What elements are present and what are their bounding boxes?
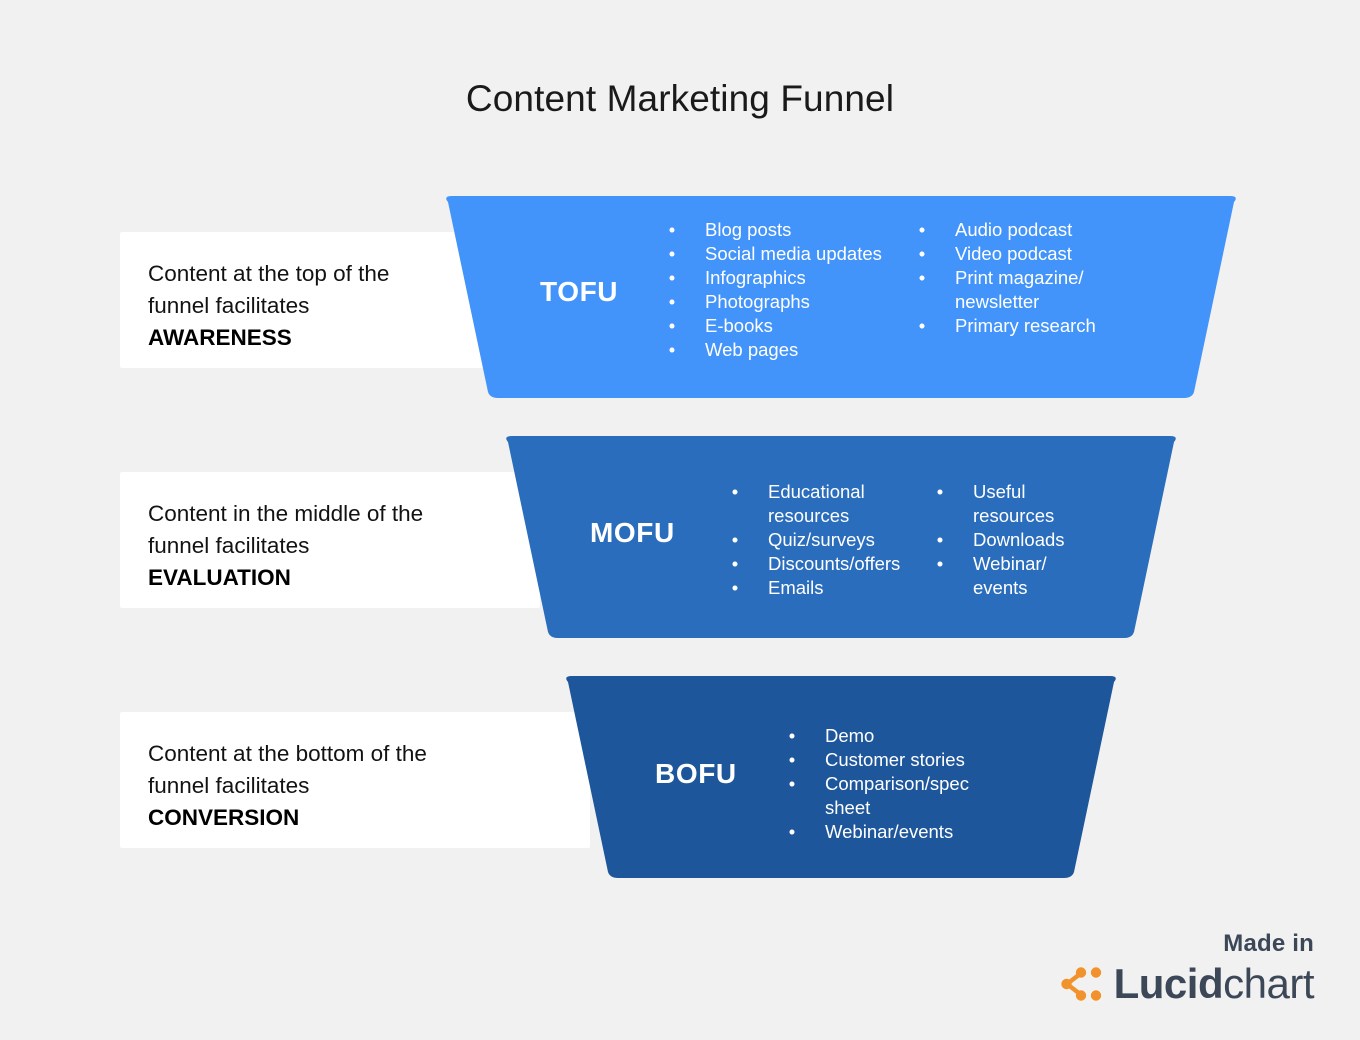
bullet-icon: •: [915, 242, 929, 266]
list-item: •Webinar/ events: [933, 552, 1065, 600]
label-card-mofu-text: Content in the middle of the funnel faci…: [148, 498, 540, 562]
bullet-icon: •: [665, 290, 679, 314]
bullet-icon: •: [933, 528, 947, 552]
bullet-icon: •: [665, 242, 679, 266]
list-item: •Video podcast: [915, 242, 1096, 266]
funnel-stage-bofu[interactable]: BOFU •Demo •Customer stories •Comparison…: [560, 676, 1122, 878]
list-item: •Primary research: [915, 314, 1096, 338]
bullet-icon: •: [933, 552, 947, 576]
wordmark-lucid: Lucid: [1114, 960, 1224, 1007]
list-item: •Web pages: [665, 338, 915, 362]
list-item: •Quiz/surveys: [728, 528, 933, 552]
stage-tofu-bullets: •Blog posts •Social media updates •Infog…: [665, 218, 1096, 362]
stage-name-mofu: MOFU: [590, 517, 675, 549]
list-item: •Print magazine/ newsletter: [915, 266, 1096, 314]
stage-bofu-bullets: •Demo •Customer stories •Comparison/spec…: [785, 724, 1015, 844]
bullet-icon: •: [665, 314, 679, 338]
stage-name-tofu: TOFU: [540, 276, 618, 308]
lucidchart-logo-icon: [1058, 962, 1104, 1006]
bullet-icon: •: [785, 772, 799, 796]
stage-mofu-bullets: •Educational resources •Quiz/surveys •Di…: [728, 480, 1065, 600]
bullet-icon: •: [933, 480, 947, 504]
list-item: •Audio podcast: [915, 218, 1096, 242]
stage-name-bofu: BOFU: [655, 758, 737, 790]
lucidchart-attribution: Made in Lucidchart: [1058, 930, 1314, 1006]
list-item: •Social media updates: [665, 242, 915, 266]
list-item: •Blog posts: [665, 218, 915, 242]
list-item: •Useful resources: [933, 480, 1065, 528]
bullet-icon: •: [915, 266, 929, 290]
bullet-icon: •: [665, 266, 679, 290]
lucidchart-wordmark: Lucidchart: [1114, 962, 1314, 1006]
list-item: •Emails: [728, 576, 933, 600]
bullet-icon: •: [915, 218, 929, 242]
list-item: •E-books: [665, 314, 915, 338]
bullet-icon: •: [915, 314, 929, 338]
bullet-icon: •: [728, 528, 742, 552]
funnel-stage-mofu[interactable]: MOFU •Educational resources •Quiz/survey…: [500, 436, 1182, 638]
bullet-icon: •: [785, 724, 799, 748]
list-item: •Downloads: [933, 528, 1065, 552]
label-card-mofu-emphasis: EVALUATION: [148, 562, 540, 594]
bullet-icon: •: [665, 218, 679, 242]
wordmark-chart: chart: [1223, 960, 1314, 1007]
label-card-bofu: Content at the bottom of the funnel faci…: [120, 712, 590, 848]
list-item: •Educational resources: [728, 480, 933, 528]
list-item: •Discounts/offers: [728, 552, 933, 576]
list-item: •Comparison/spec sheet: [785, 772, 1015, 820]
stage-tofu-column-b: •Audio podcast •Video podcast •Print mag…: [915, 218, 1096, 338]
label-card-mofu: Content in the middle of the funnel faci…: [120, 472, 540, 608]
made-in-label: Made in: [1058, 930, 1314, 958]
bullet-icon: •: [728, 552, 742, 576]
bullet-icon: •: [785, 820, 799, 844]
stage-tofu-column-a: •Blog posts •Social media updates •Infog…: [665, 218, 915, 362]
bullet-icon: •: [785, 748, 799, 772]
page-title: Content Marketing Funnel: [0, 78, 1360, 120]
stage-bofu-column-a: •Demo •Customer stories •Comparison/spec…: [785, 724, 1015, 844]
list-item: •Demo: [785, 724, 1015, 748]
list-item: •Infographics: [665, 266, 915, 290]
stage-mofu-column-a: •Educational resources •Quiz/surveys •Di…: [728, 480, 933, 600]
list-item: •Customer stories: [785, 748, 1015, 772]
bullet-icon: •: [665, 338, 679, 362]
diagram-canvas: Content Marketing Funnel Content at the …: [0, 0, 1360, 1040]
bullet-icon: •: [728, 480, 742, 504]
bullet-icon: •: [728, 576, 742, 600]
stage-mofu-column-b: •Useful resources •Downloads •Webinar/ e…: [933, 480, 1065, 600]
label-card-bofu-text: Content at the bottom of the funnel faci…: [148, 738, 590, 802]
label-card-bofu-emphasis: CONVERSION: [148, 802, 590, 834]
funnel-stage-tofu[interactable]: TOFU •Blog posts •Social media updates •…: [440, 196, 1242, 398]
list-item: •Photographs: [665, 290, 915, 314]
list-item: •Webinar/events: [785, 820, 1015, 844]
